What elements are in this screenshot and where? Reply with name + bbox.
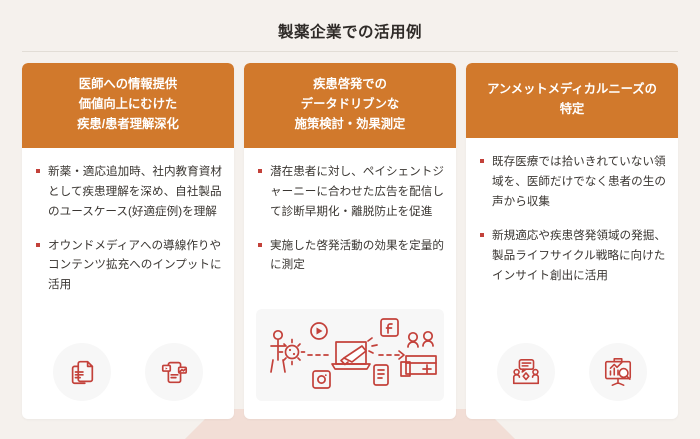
page-title: 製薬企業での活用例 bbox=[0, 0, 700, 42]
article-list-icon bbox=[374, 365, 388, 385]
card-2-header-line-3: 施策検討・効果測定 bbox=[252, 115, 448, 135]
card-1-header-line-1: 医師への情報提供 bbox=[30, 75, 226, 95]
card-2-bullet-list: 潜在患者に対し、ペイシェントジャーニーに合わせた広告を配信して診断早期化・離脱防… bbox=[256, 162, 444, 276]
use-case-card-2: 疾患啓発での データドリブンな 施策検討・効果測定 潜在患者に対し、ペイシェント… bbox=[244, 63, 456, 419]
play-circle-icon bbox=[311, 323, 327, 339]
title-divider bbox=[22, 51, 678, 52]
card-3-header: アンメットメディカルニーズの 特定 bbox=[466, 63, 678, 138]
card-1-header-line-3: 疾患/患者理解深化 bbox=[30, 115, 226, 135]
facebook-icon bbox=[381, 319, 398, 336]
card-1-icon-row bbox=[22, 343, 234, 419]
card-1-header-line-2: 価値向上にむけた bbox=[30, 95, 226, 115]
patient-to-clinic-campaign-flow-illustration bbox=[256, 309, 444, 401]
card-3-body: 既存医療では拾いきれていない領域を、医師だけでなく患者の生の声から収集 新規適応… bbox=[466, 138, 678, 343]
card-2-header-line-1: 疾患啓発での bbox=[252, 75, 448, 95]
card-3-header-line-2: 特定 bbox=[474, 100, 670, 120]
card-row: 医師への情報提供 価値向上にむけた 疾患/患者理解深化 新薬・適応追加時、社内教… bbox=[22, 63, 678, 419]
documents-icon bbox=[53, 343, 111, 401]
list-item: 新規適応や疾患啓発領域の発掘、製品ライフサイクル戦略に向けたインサイト創出に活用 bbox=[478, 226, 666, 286]
list-item: 新薬・適応追加時、社内教育資材として疾患理解を深め、自社製品のユースケース(好適… bbox=[34, 162, 222, 222]
card-2-header-line-2: データドリブンな bbox=[252, 95, 448, 115]
clinic-staff-icon bbox=[401, 332, 436, 376]
card-3-bullet-list: 既存医療では拾いきれていない領域を、医師だけでなく患者の生の声から収集 新規適応… bbox=[478, 152, 666, 286]
photo-app-icon bbox=[313, 371, 330, 388]
list-item: オウンドメディアへの導線作りやコンテンツ拡充へのインプットに活用 bbox=[34, 236, 222, 296]
card-2-header: 疾患啓発での データドリブンな 施策検討・効果測定 bbox=[244, 63, 456, 148]
chart-analysis-board-icon bbox=[589, 343, 647, 401]
card-1-bullet-list: 新薬・適応追加時、社内教育資材として疾患理解を深め、自社製品のユースケース(好適… bbox=[34, 162, 222, 296]
people-conversation-icon bbox=[497, 343, 555, 401]
list-item: 潜在患者に対し、ペイシェントジャーニーに合わせた広告を配信して診断早期化・離脱防… bbox=[256, 162, 444, 222]
list-item: 実施した啓発活動の効果を定量的に測定 bbox=[256, 236, 444, 276]
mobile-media-content-icon bbox=[145, 343, 203, 401]
card-1-header: 医師への情報提供 価値向上にむけた 疾患/患者理解深化 bbox=[22, 63, 234, 148]
list-item: 既存医療では拾いきれていない領域を、医師だけでなく患者の生の声から収集 bbox=[478, 152, 666, 212]
card-3-icon-row bbox=[466, 343, 678, 419]
card-1-body: 新薬・適応追加時、社内教育資材として疾患理解を深め、自社製品のユースケース(好適… bbox=[22, 148, 234, 343]
card-3-header-line-1: アンメットメディカルニーズの bbox=[474, 80, 670, 100]
use-case-card-3: アンメットメディカルニーズの 特定 既存医療では拾いきれていない領域を、医師だけ… bbox=[466, 63, 678, 419]
card-2-body: 潜在患者に対し、ペイシェントジャーニーに合わせた広告を配信して診断早期化・離脱防… bbox=[244, 148, 456, 309]
use-case-card-1: 医師への情報提供 価値向上にむけた 疾患/患者理解深化 新薬・適応追加時、社内教… bbox=[22, 63, 234, 419]
